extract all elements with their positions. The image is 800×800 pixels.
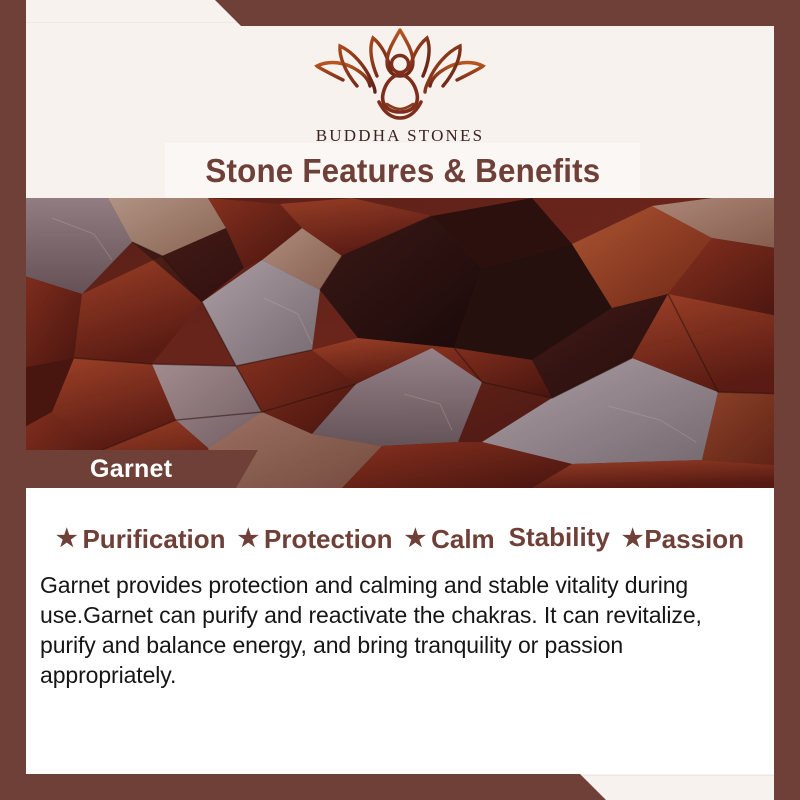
benefit-label: Calm — [431, 524, 495, 555]
benefit-label: Purification — [82, 524, 225, 555]
frame-band-left — [0, 0, 26, 800]
garnet-crystal-photo-graphic — [12, 198, 788, 488]
benefit-label: Protection — [264, 524, 393, 555]
star-icon: ★ — [56, 527, 78, 551]
benefits-row: ★ Purification ★ Protection ★ Calm Stabi… — [12, 522, 788, 555]
frame-band-right — [774, 0, 800, 800]
benefit-item-stability: Stability — [509, 522, 610, 553]
star-icon: ★ — [237, 527, 259, 551]
page-title: Stone Features & Benefits — [205, 152, 600, 190]
body-panel: ★ Purification ★ Protection ★ Calm Stabi… — [12, 488, 788, 774]
stone-info-card: BUDDHA STONES — [0, 0, 800, 800]
garnet-crystal-photo — [12, 198, 788, 488]
stone-name-label: Garnet — [12, 450, 258, 488]
star-icon: ★ — [405, 527, 427, 551]
frame-band-bottom — [0, 774, 800, 800]
benefit-label: Stability — [509, 522, 610, 553]
benefit-item-purification: ★ Purification — [56, 524, 226, 555]
lotus-meditation-figure-icon — [307, 24, 493, 122]
stone-description: Garnet provides protection and calming a… — [40, 570, 762, 690]
benefit-item-protection: ★ Protection — [237, 524, 392, 555]
stone-name-text: Garnet — [90, 455, 172, 484]
star-icon: ★ — [622, 527, 644, 551]
brand-logo: BUDDHA STONES — [0, 24, 800, 146]
benefit-label: Passion — [644, 524, 744, 555]
benefit-item-passion: ★ Passion — [622, 524, 744, 555]
benefit-item-calm: ★ Calm — [405, 524, 495, 555]
title-banner: Stone Features & Benefits — [165, 143, 640, 198]
